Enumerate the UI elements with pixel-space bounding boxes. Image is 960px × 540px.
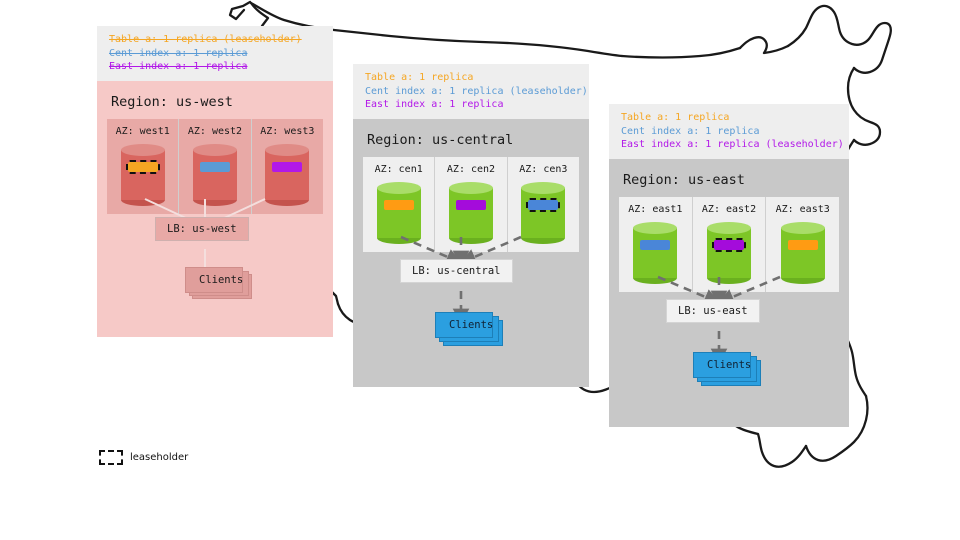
annotation-cent-index-a: Cent index a: 1 replica (leaseholder) (365, 85, 579, 99)
region-body-us-east: Region: us-east AZ: east1 AZ: east2 (609, 159, 849, 427)
replica-annotations-us-west: Table a: 1 replica (leaseholder) Cent in… (97, 26, 333, 81)
annotation-table-a: Table a: 1 replica (365, 71, 579, 85)
replica-chip-table-a[interactable] (384, 200, 414, 210)
region-body-us-west: Region: us-west AZ: west1 AZ: west2 (97, 81, 333, 337)
load-balancer-us-west[interactable]: LB: us-west (155, 217, 249, 241)
clients-stack-us-west[interactable]: Clients (185, 267, 243, 293)
replica-chip-table-a[interactable] (128, 162, 158, 172)
clients-box-us-central[interactable]: Clients (435, 312, 493, 338)
diagram-stage: Table a: 1 replica (leaseholder) Cent in… (0, 0, 960, 540)
legend-label: leaseholder (130, 452, 188, 463)
replica-chip-east-index-a[interactable] (456, 200, 486, 210)
load-balancer-us-central[interactable]: LB: us-central (400, 259, 513, 283)
replica-chip-cent-index-a[interactable] (200, 162, 230, 172)
clients-stack-us-east[interactable]: Clients (693, 352, 751, 378)
annotation-east-index-a: East index a: 1 replica (365, 98, 579, 112)
annotation-table-a: Table a: 1 replica (621, 111, 839, 125)
replica-chip-east-index-a[interactable] (272, 162, 302, 172)
annotation-east-index-a: East index a: 1 replica (109, 60, 323, 74)
clients-stack-us-central[interactable]: Clients (435, 312, 493, 338)
annotation-east-index-a: East index a: 1 replica (leaseholder) (621, 138, 839, 152)
legend: leaseholder (99, 450, 188, 465)
clients-box-us-west[interactable]: Clients (185, 267, 243, 293)
replica-chip-cent-index-a[interactable] (528, 200, 558, 210)
annotation-cent-index-a: Cent index a: 1 replica (621, 125, 839, 139)
region-card-us-west: Table a: 1 replica (leaseholder) Cent in… (97, 26, 333, 337)
replica-annotations-us-east: Table a: 1 replica Cent index a: 1 repli… (609, 104, 849, 159)
region-body-us-central: Region: us-central AZ: cen1 AZ: cen2 (353, 119, 589, 387)
replica-chip-table-a[interactable] (788, 240, 818, 250)
dashed-rect-icon (99, 450, 123, 465)
region-card-us-central: Table a: 1 replica Cent index a: 1 repli… (353, 64, 589, 387)
replica-chip-east-index-a[interactable] (714, 240, 744, 250)
annotation-table-a: Table a: 1 replica (leaseholder) (109, 33, 323, 47)
region-card-us-east: Table a: 1 replica Cent index a: 1 repli… (609, 104, 849, 427)
clients-box-us-east[interactable]: Clients (693, 352, 751, 378)
replica-annotations-us-central: Table a: 1 replica Cent index a: 1 repli… (353, 64, 589, 119)
replica-chip-cent-index-a[interactable] (640, 240, 670, 250)
annotation-cent-index-a: Cent index a: 1 replica (109, 47, 323, 61)
load-balancer-us-east[interactable]: LB: us-east (666, 299, 760, 323)
